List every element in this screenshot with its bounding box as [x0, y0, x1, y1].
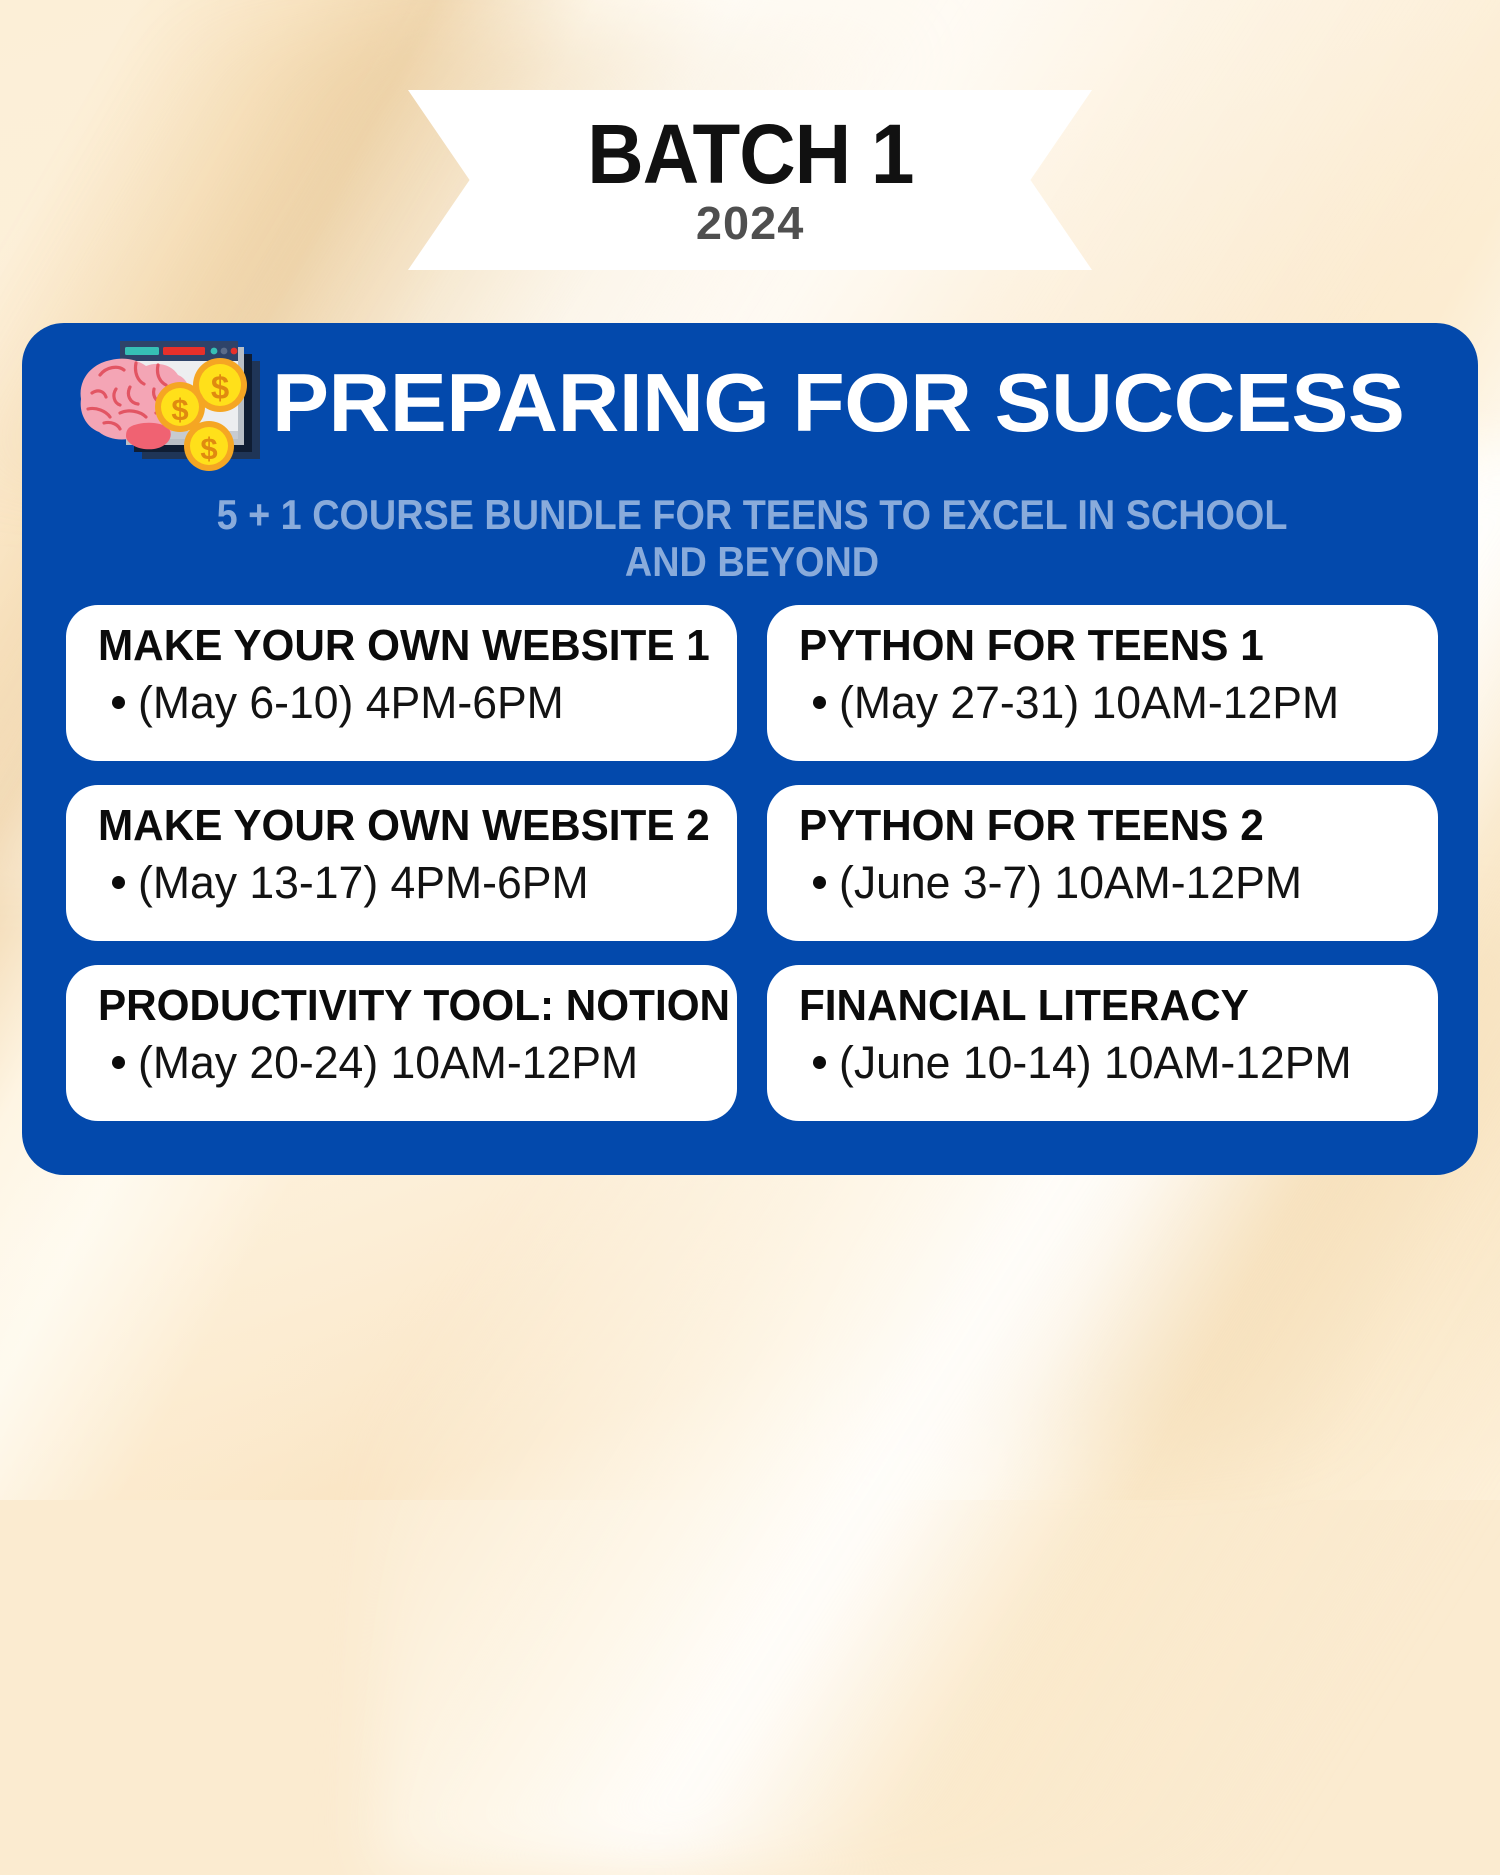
banner-title: BATCH 1 — [587, 116, 913, 193]
course-schedule: (May 27-31) 10AM-12PM — [799, 679, 1412, 726]
course-title: MAKE YOUR OWN WEBSITE 1 — [98, 623, 686, 669]
course-dates: (June 10-14) 10AM-12PM — [839, 1039, 1352, 1086]
course-title: MAKE YOUR OWN WEBSITE 2 — [98, 803, 686, 849]
banner-year: 2024 — [696, 200, 804, 246]
bullet-icon — [112, 1056, 125, 1069]
course-card[interactable]: PRODUCTIVITY TOOL: NOTION (May 20-24) 10… — [66, 965, 737, 1121]
bullet-icon — [813, 696, 826, 709]
svg-text:$: $ — [171, 392, 188, 427]
bullet-icon — [112, 696, 125, 709]
course-dates: (June 3-7) 10AM-12PM — [839, 859, 1302, 906]
svg-text:$: $ — [200, 431, 217, 466]
course-title: PRODUCTIVITY TOOL: NOTION — [98, 983, 686, 1029]
bullet-icon — [813, 1056, 826, 1069]
course-schedule: (June 10-14) 10AM-12PM — [799, 1039, 1412, 1086]
course-schedule: (May 20-24) 10AM-12PM — [98, 1039, 711, 1086]
course-card[interactable]: PYTHON FOR TEENS 1 (May 27-31) 10AM-12PM — [767, 605, 1438, 761]
course-title: PYTHON FOR TEENS 2 — [799, 803, 1387, 849]
course-bundle-panel: $ $ $ PREPARING FOR SUCCESS 5 + 1 COURS — [22, 323, 1478, 1175]
dollar-coin-icon: $ — [184, 421, 234, 471]
course-schedule: (June 3-7) 10AM-12PM — [799, 859, 1412, 906]
course-title: PYTHON FOR TEENS 1 — [799, 623, 1387, 669]
svg-text:$: $ — [211, 369, 229, 406]
course-card[interactable]: PYTHON FOR TEENS 2 (June 3-7) 10AM-12PM — [767, 785, 1438, 941]
course-dates: (May 20-24) 10AM-12PM — [138, 1039, 638, 1086]
bullet-icon — [813, 876, 826, 889]
panel-heading: PREPARING FOR SUCCESS — [272, 361, 1498, 444]
brain-browser-coins-icon: $ $ $ — [68, 337, 298, 497]
course-title: FINANCIAL LITERACY — [799, 983, 1387, 1029]
course-dates: (May 6-10) 4PM-6PM — [138, 679, 564, 726]
course-card[interactable]: MAKE YOUR OWN WEBSITE 2 (May 13-17) 4PM-… — [66, 785, 737, 941]
course-dates: (May 27-31) 10AM-12PM — [839, 679, 1339, 726]
course-card[interactable]: MAKE YOUR OWN WEBSITE 1 (May 6-10) 4PM-6… — [66, 605, 737, 761]
course-card[interactable]: FINANCIAL LITERACY (June 10-14) 10AM-12P… — [767, 965, 1438, 1121]
panel-subheading: 5 + 1 COURSE BUNDLE FOR TEENS TO EXCEL I… — [194, 491, 1310, 585]
panel-header: $ $ $ PREPARING FOR SUCCESS 5 + 1 COURS — [22, 323, 1478, 503]
course-schedule: (May 6-10) 4PM-6PM — [98, 679, 711, 726]
course-card-grid: MAKE YOUR OWN WEBSITE 1 (May 6-10) 4PM-6… — [66, 605, 1438, 1121]
course-schedule: (May 13-17) 4PM-6PM — [98, 859, 711, 906]
bullet-icon — [112, 876, 125, 889]
course-dates: (May 13-17) 4PM-6PM — [138, 859, 589, 906]
batch-ribbon-banner: BATCH 1 2024 — [408, 90, 1092, 270]
